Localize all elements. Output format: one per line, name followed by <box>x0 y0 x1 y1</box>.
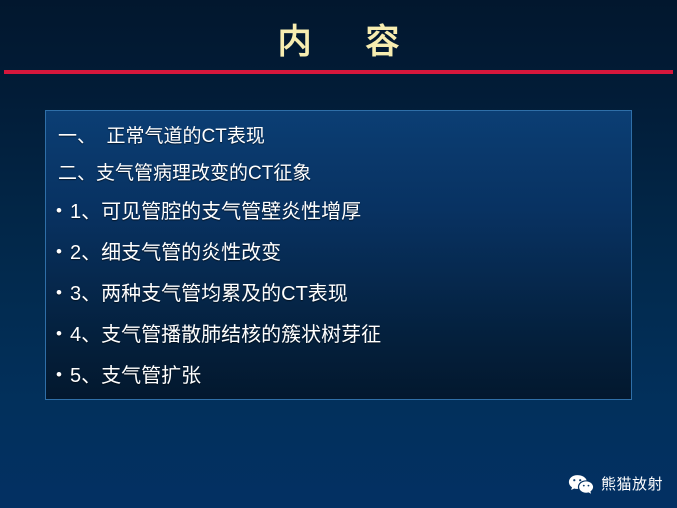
bullet-label: 4、支气管播散肺结核的簇状树芽征 <box>70 318 381 347</box>
list-item: 二、支气管病理改变的CT征象 <box>46 158 631 195</box>
slide-canvas: 内 容 一、 正常气道的CT表现 二、支气管病理改变的CT征象 • 1、可见管腔… <box>0 0 677 508</box>
wechat-icon <box>568 474 594 494</box>
watermark: 熊猫放射 <box>568 473 663 494</box>
bullet-label: 1、可见管腔的支气管壁炎性增厚 <box>70 195 361 224</box>
bullet-marker-icon: • <box>56 283 70 303</box>
bullet-marker-icon: • <box>56 365 70 385</box>
list-item: 一、 正常气道的CT表现 <box>46 121 631 158</box>
content-panel: 一、 正常气道的CT表现 二、支气管病理改变的CT征象 • 1、可见管腔的支气管… <box>45 110 632 400</box>
list-item: • 4、支气管播散肺结核的簇状树芽征 <box>46 318 631 359</box>
heading-label: 一、 正常气道的CT表现 <box>58 121 265 148</box>
bullet-label: 5、支气管扩张 <box>70 359 201 388</box>
bullet-label: 3、两种支气管均累及的CT表现 <box>70 277 348 306</box>
list-item: • 2、细支气管的炎性改变 <box>46 236 631 277</box>
heading-label: 二、支气管病理改变的CT征象 <box>58 158 311 185</box>
page-title: 内 容 <box>0 21 677 63</box>
title-divider <box>4 70 673 74</box>
bullet-marker-icon: • <box>56 201 70 221</box>
list-item: • 3、两种支气管均累及的CT表现 <box>46 277 631 318</box>
watermark-label: 熊猫放射 <box>601 473 663 494</box>
list-item: • 5、支气管扩张 <box>46 359 631 400</box>
list-item: • 1、可见管腔的支气管壁炎性增厚 <box>46 195 631 236</box>
bullet-label: 2、细支气管的炎性改变 <box>70 236 281 265</box>
bullet-marker-icon: • <box>56 242 70 262</box>
bullet-marker-icon: • <box>56 324 70 344</box>
